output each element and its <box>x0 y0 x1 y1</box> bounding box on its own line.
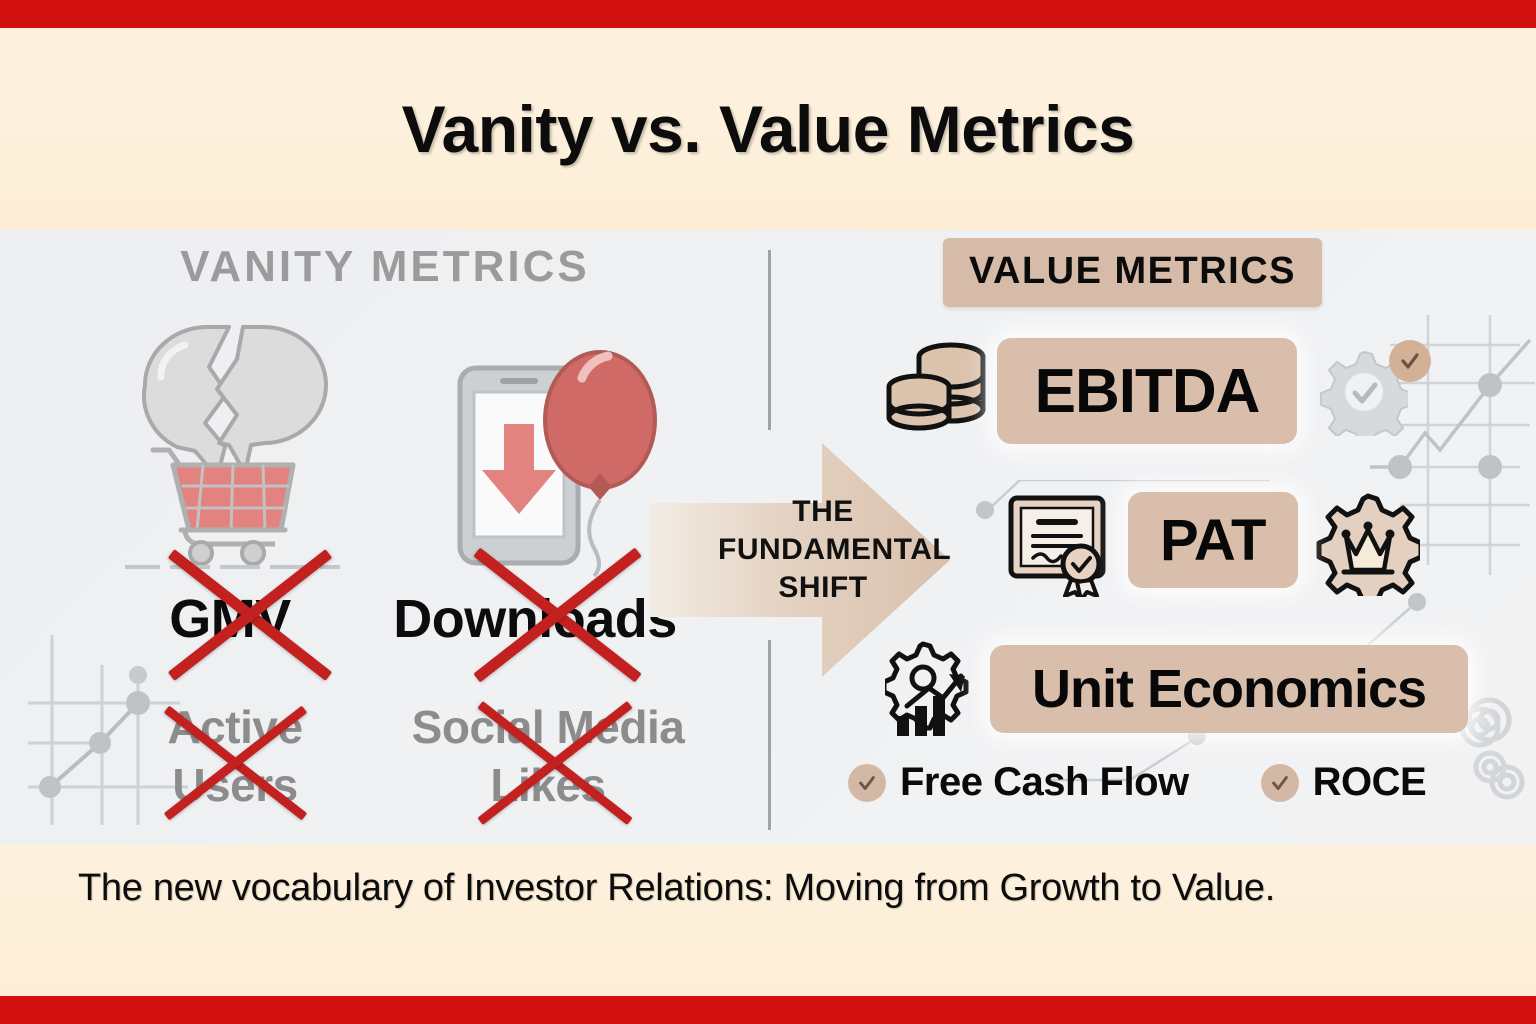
vanity-sublabel-social-media-likes: Social Media Likes <box>398 698 698 814</box>
footer-band: The new vocabulary of Investor Relations… <box>0 845 1536 996</box>
footer-caption: The new vocabulary of Investor Relations… <box>78 867 1275 910</box>
value-metric-pat: PAT <box>1128 492 1298 588</box>
value-metric-unit-economics: Unit Economics <box>990 645 1468 733</box>
bottom-accent-bar <box>0 996 1536 1024</box>
fundamental-shift-arrow: THE FUNDAMENTAL SHIFT <box>650 435 950 685</box>
value-metric-ebitda: EBITDA <box>997 338 1297 444</box>
broken-speech-bubble-cart-icon <box>125 315 345 570</box>
check-circle-icon <box>848 764 886 802</box>
vanity-metrics-heading: VANITY METRICS <box>150 242 620 292</box>
arrow-line-1: THE <box>792 495 854 528</box>
phone-download-balloon-icon <box>448 320 663 580</box>
main-body: VANITY METRICS <box>0 230 1536 845</box>
checklist-label-free-cash-flow: Free Cash Flow <box>900 760 1189 805</box>
header-band: Vanity vs. Value Metrics <box>0 28 1536 230</box>
center-divider-top <box>768 250 771 430</box>
arrow-line-2: FUNDAMENTAL <box>718 533 951 566</box>
check-circle-icon-2 <box>1261 764 1299 802</box>
value-metrics-heading: VALUE METRICS <box>943 238 1322 307</box>
vanity-sublabel-active-users: Active Users <box>125 698 345 814</box>
page-title: Vanity vs. Value Metrics <box>402 91 1135 167</box>
infographic-canvas: Vanity vs. Value Metrics <box>0 0 1536 1024</box>
right-grid-chart-decoration <box>1370 315 1536 655</box>
top-accent-bar <box>0 0 1536 28</box>
value-checklist: Free Cash Flow ROCE <box>848 760 1426 805</box>
arrow-caption: THE FUNDAMENTAL SHIFT <box>718 493 928 607</box>
checklist-label-roce: ROCE <box>1313 760 1427 805</box>
vanity-label-gmv: GMV <box>100 588 360 650</box>
arrow-line-3: SHIFT <box>778 571 867 604</box>
